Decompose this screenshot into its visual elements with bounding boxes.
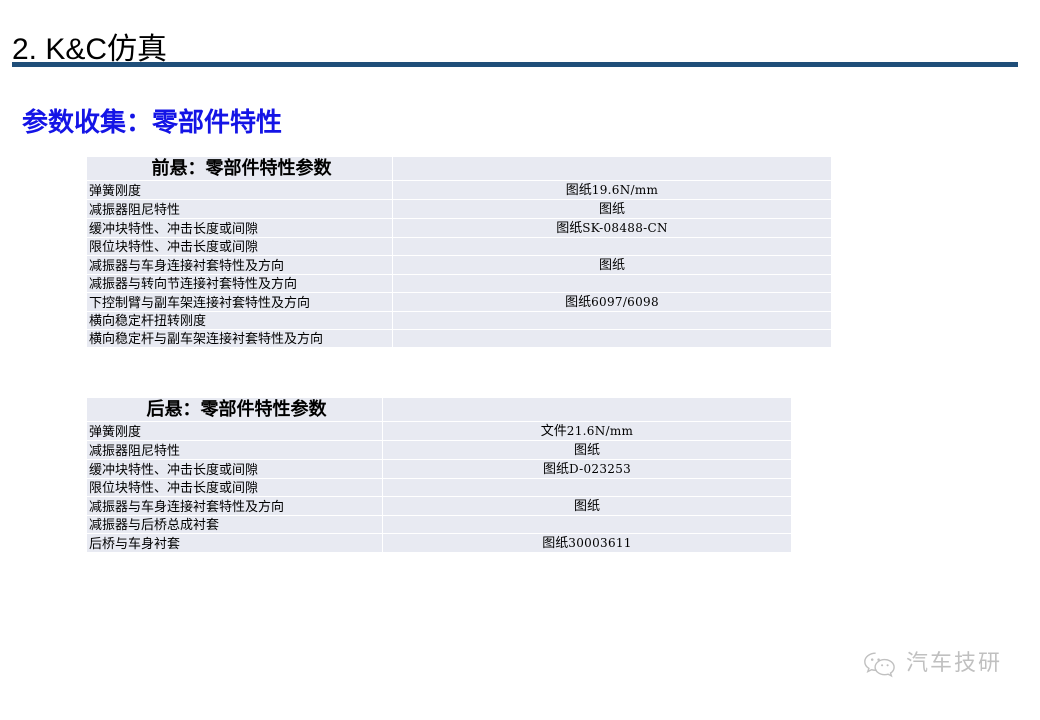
front-table-header-value bbox=[393, 157, 831, 180]
parameter-name-cell: 弹簧刚度 bbox=[87, 181, 392, 199]
rear-table-header-title: 后悬：零部件特性参数 bbox=[87, 398, 382, 421]
parameter-value-cell bbox=[393, 238, 831, 255]
parameter-name-cell: 弹簧刚度 bbox=[87, 422, 382, 440]
parameter-value-cell bbox=[393, 312, 831, 329]
parameter-value-source: 图纸 bbox=[574, 442, 600, 457]
parameter-value-source: 图纸 bbox=[566, 182, 592, 197]
parameter-value-cell: 图纸6097/6098 bbox=[393, 293, 831, 311]
parameter-value-cell bbox=[383, 516, 791, 533]
parameter-value-source: 文件 bbox=[541, 423, 567, 438]
parameter-name-cell: 减振器阻尼特性 bbox=[87, 200, 392, 218]
rear-table-body: 后悬：零部件特性参数 弹簧刚度文件21.6N/mm减振器阻尼特性图纸缓冲块特性、… bbox=[87, 398, 791, 552]
parameter-value-code: 6097/6098 bbox=[591, 295, 659, 309]
parameter-value-cell: 图纸 bbox=[383, 441, 791, 459]
footer-watermark: 汽车技研 bbox=[862, 650, 1002, 678]
table-header-row: 后悬：零部件特性参数 bbox=[87, 398, 791, 421]
parameter-name-cell: 限位块特性、冲击长度或间隙 bbox=[87, 238, 392, 255]
parameter-value-source: 图纸 bbox=[542, 535, 568, 550]
table-row: 减振器与转向节连接衬套特性及方向 bbox=[87, 275, 831, 292]
parameter-value-source: 图纸 bbox=[599, 257, 625, 272]
parameter-value-cell: 图纸 bbox=[393, 256, 831, 274]
table-row: 横向稳定杆与副车架连接衬套特性及方向 bbox=[87, 330, 831, 347]
parameter-value-code: SK-08488-CN bbox=[582, 221, 668, 235]
parameter-value-code: 19.6N/mm bbox=[592, 183, 658, 197]
parameter-name-cell: 减振器与车身连接衬套特性及方向 bbox=[87, 497, 382, 515]
parameter-value-source: 图纸 bbox=[574, 498, 600, 513]
table-row: 限位块特性、冲击长度或间隙 bbox=[87, 238, 831, 255]
table-row: 缓冲块特性、冲击长度或间隙图纸SK-08488-CN bbox=[87, 219, 831, 237]
parameter-name-cell: 减振器与车身连接衬套特性及方向 bbox=[87, 256, 392, 274]
parameter-value-source: 图纸 bbox=[599, 201, 625, 216]
parameter-value-source: 图纸 bbox=[565, 294, 591, 309]
parameter-value-cell: 图纸 bbox=[393, 200, 831, 218]
section-subtitle: 参数收集：零部件特性 bbox=[22, 106, 282, 140]
parameter-name-cell: 减振器与后桥总成衬套 bbox=[87, 516, 382, 533]
parameter-name-cell: 减振器与转向节连接衬套特性及方向 bbox=[87, 275, 392, 292]
parameter-value-cell: 图纸 bbox=[383, 497, 791, 515]
table-row: 弹簧刚度图纸19.6N/mm bbox=[87, 181, 831, 199]
parameter-value-source: 图纸 bbox=[556, 220, 582, 235]
table-row: 减振器阻尼特性图纸 bbox=[87, 441, 791, 459]
parameter-value-code: D-023253 bbox=[569, 462, 631, 476]
parameter-value-code: 30003611 bbox=[568, 536, 631, 550]
parameter-value-cell: 图纸D-023253 bbox=[383, 460, 791, 478]
table-row: 下控制臂与副车架连接衬套特性及方向图纸6097/6098 bbox=[87, 293, 831, 311]
watermark-label: 汽车技研 bbox=[906, 651, 1002, 677]
parameter-name-cell: 横向稳定杆与副车架连接衬套特性及方向 bbox=[87, 330, 392, 347]
parameter-value-cell bbox=[383, 479, 791, 496]
parameter-name-cell: 缓冲块特性、冲击长度或间隙 bbox=[87, 460, 382, 478]
parameter-value-cell bbox=[393, 330, 831, 347]
parameter-name-cell: 缓冲块特性、冲击长度或间隙 bbox=[87, 219, 392, 237]
front-table-header-title: 前悬：零部件特性参数 bbox=[87, 157, 392, 180]
table-row: 横向稳定杆扭转刚度 bbox=[87, 312, 831, 329]
rear-table-header-value bbox=[383, 398, 791, 421]
table-row: 限位块特性、冲击长度或间隙 bbox=[87, 479, 791, 496]
table-row: 减振器与后桥总成衬套 bbox=[87, 516, 791, 533]
table-row: 减振器与车身连接衬套特性及方向图纸 bbox=[87, 497, 791, 515]
table-row: 缓冲块特性、冲击长度或间隙图纸D-023253 bbox=[87, 460, 791, 478]
parameter-value-cell: 图纸19.6N/mm bbox=[393, 181, 831, 199]
parameter-name-cell: 限位块特性、冲击长度或间隙 bbox=[87, 479, 382, 496]
wechat-icon bbox=[862, 650, 898, 678]
rear-suspension-parameter-table: 后悬：零部件特性参数 弹簧刚度文件21.6N/mm减振器阻尼特性图纸缓冲块特性、… bbox=[86, 397, 792, 553]
front-suspension-parameter-table: 前悬：零部件特性参数 弹簧刚度图纸19.6N/mm减振器阻尼特性图纸缓冲块特性、… bbox=[86, 156, 832, 348]
parameter-value-cell: 文件21.6N/mm bbox=[383, 422, 791, 440]
page-title: 2. K&C仿真 bbox=[12, 32, 167, 68]
table-row: 减振器阻尼特性图纸 bbox=[87, 200, 831, 218]
table-row: 减振器与车身连接衬套特性及方向图纸 bbox=[87, 256, 831, 274]
parameter-value-cell: 图纸SK-08488-CN bbox=[393, 219, 831, 237]
parameter-name-cell: 下控制臂与副车架连接衬套特性及方向 bbox=[87, 293, 392, 311]
parameter-name-cell: 后桥与车身衬套 bbox=[87, 534, 382, 552]
parameter-value-source: 图纸 bbox=[543, 461, 569, 476]
table-row: 弹簧刚度文件21.6N/mm bbox=[87, 422, 791, 440]
front-table-body: 前悬：零部件特性参数 弹簧刚度图纸19.6N/mm减振器阻尼特性图纸缓冲块特性、… bbox=[87, 157, 831, 347]
parameter-value-cell: 图纸30003611 bbox=[383, 534, 791, 552]
parameter-name-cell: 减振器阻尼特性 bbox=[87, 441, 382, 459]
parameter-value-cell bbox=[393, 275, 831, 292]
table-row: 后桥与车身衬套图纸30003611 bbox=[87, 534, 791, 552]
table-header-row: 前悬：零部件特性参数 bbox=[87, 157, 831, 180]
parameter-name-cell: 横向稳定杆扭转刚度 bbox=[87, 312, 392, 329]
parameter-value-code: 21.6N/mm bbox=[567, 424, 633, 438]
